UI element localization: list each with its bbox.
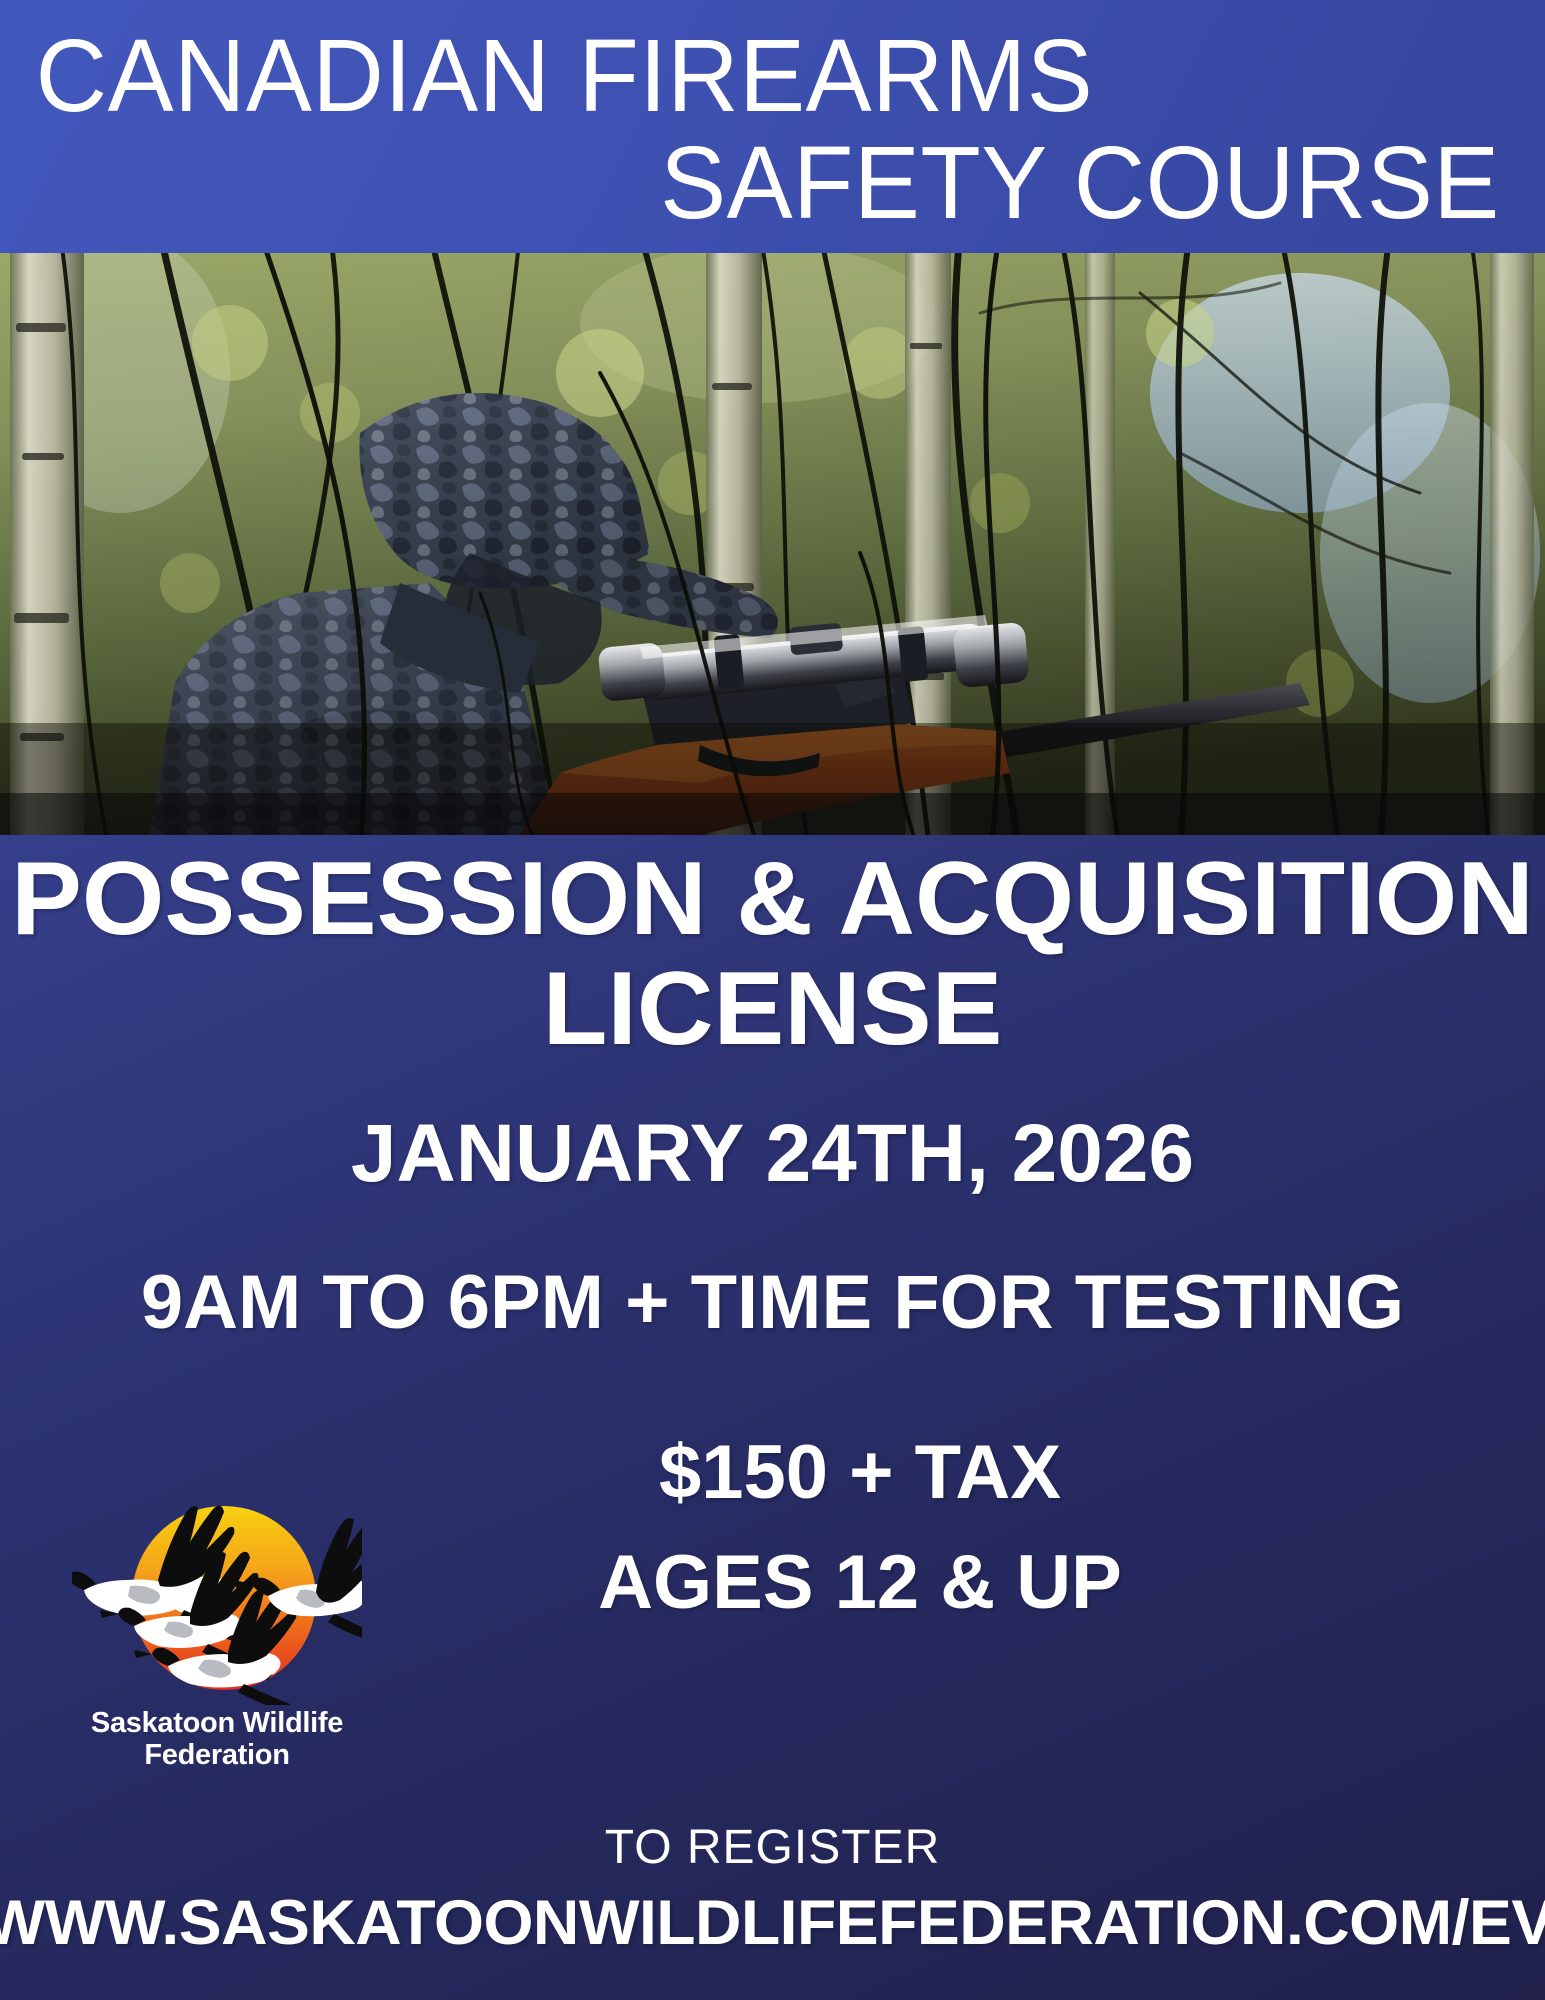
poster-canvas: CANADIAN FIREARMS SAFETY COURSE bbox=[0, 0, 1545, 2000]
license-subtitle-line-2: LICENSE bbox=[0, 957, 1545, 1061]
license-subtitle-line-1: POSSESSION & ACQUISITION bbox=[0, 847, 1545, 951]
poster-title-line-2: SAFETY COURSE bbox=[88, 129, 1517, 236]
poster-body: POSSESSION & ACQUISITION LICENSE JANUARY… bbox=[0, 835, 1545, 2000]
course-time: 9AM TO 6PM + TIME FOR TESTING bbox=[0, 1265, 1545, 1341]
saskatoon-wildlife-federation-logo: Saskatoon Wildlife Federation bbox=[62, 1480, 372, 1780]
header-band: CANADIAN FIREARMS SAFETY COURSE bbox=[0, 0, 1545, 253]
logo-org-line-1: Saskatoon Wildlife bbox=[62, 1707, 372, 1739]
logo-org-line-2: Federation bbox=[62, 1739, 372, 1771]
register-label: TO REGISTER bbox=[0, 1820, 1545, 1875]
course-price: $150 + TAX bbox=[360, 1435, 1360, 1511]
logo-org-name: Saskatoon Wildlife Federation bbox=[62, 1707, 372, 1772]
course-age-requirement: AGES 12 & UP bbox=[360, 1545, 1360, 1621]
course-date: JANUARY 24TH, 2026 bbox=[0, 1113, 1545, 1195]
flying-cranes-sun-icon bbox=[72, 1480, 362, 1705]
hunter-photo bbox=[0, 253, 1545, 835]
register-url[interactable]: WWW.SASKATOONWILDLIFEFEDERATION.COM/EVEN… bbox=[0, 1887, 1545, 1959]
hunter-photo-artwork bbox=[0, 253, 1545, 835]
poster-title-line-1: CANADIAN FIREARMS bbox=[28, 22, 1457, 129]
